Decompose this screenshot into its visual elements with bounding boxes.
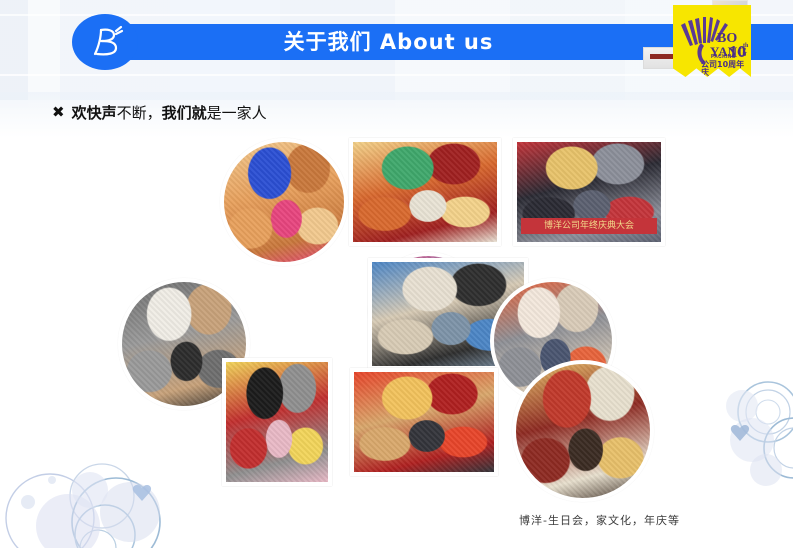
collage-caption: 博洋-生日会，家文化，年庆等 [519, 512, 680, 528]
photo-balloon-ceiling-gift [220, 138, 348, 266]
photo-texture [224, 142, 344, 262]
photo-texture [226, 362, 328, 482]
photo-costume-performance [349, 138, 501, 246]
photo-group-annual-meeting: 博洋公司年终庆典大会 [513, 138, 665, 246]
slide-canvas: 关于我们 About us [0, 0, 793, 548]
photo-texture [353, 142, 497, 242]
photo-musical-chairs-game [350, 368, 498, 476]
photo-texture [354, 372, 494, 472]
photo-collage: 博洋公司年终庆典大会 [0, 0, 793, 548]
photo-yellow-scarf-dancers [222, 358, 332, 486]
photo-texture [516, 364, 650, 498]
photo-banquet-cheers [512, 360, 654, 502]
photo-banner-text: 博洋公司年终庆典大会 [521, 218, 657, 234]
